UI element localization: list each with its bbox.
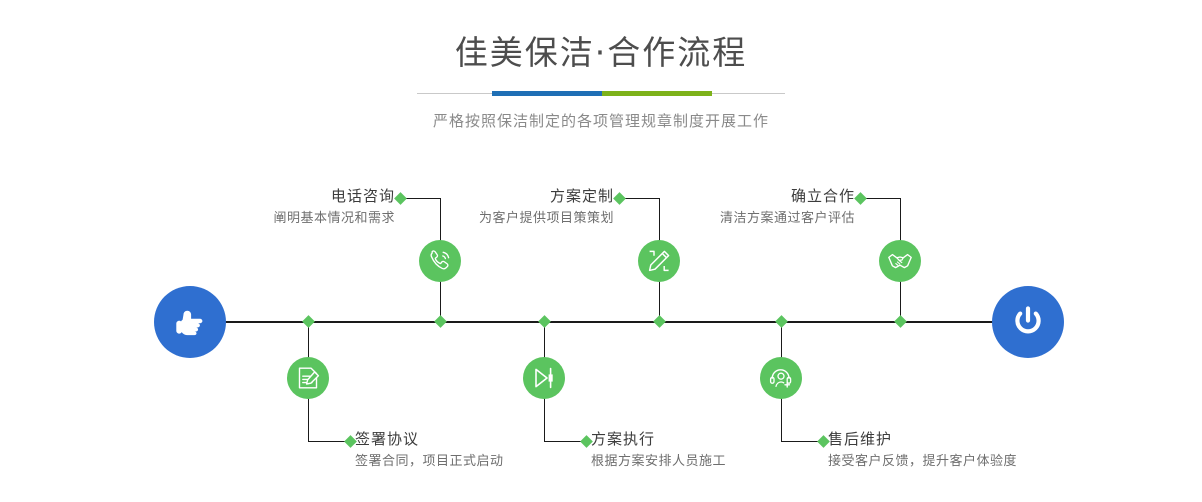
step-desc-5: 清洁方案通过客户评估: [575, 209, 855, 229]
process-timeline: 电话咨询 阐明基本情况和需求 签署协议 签署合同，项目正式启动: [0, 0, 1202, 502]
step-icon-1[interactable]: [419, 240, 461, 282]
timeline-main-axis: [225, 321, 1005, 323]
step-desc-3: 为客户提供项目策策划: [330, 209, 614, 229]
step-label-5: 确立合作 清洁方案通过客户评估: [575, 185, 855, 229]
timeline-marker-6: [775, 315, 788, 328]
step-label-2: 签署协议 签署合同，项目正式启动: [355, 428, 504, 472]
timeline-marker-4: [538, 315, 551, 328]
step-icon-2[interactable]: [287, 357, 329, 399]
step-desc-4: 根据方案安排人员施工: [591, 452, 726, 472]
flow-diagram-page: 佳美保洁·合作流程 严格按照保洁制定的各项管理规章制度开展工作: [0, 0, 1202, 502]
timeline-start-endpoint: [154, 286, 226, 358]
timeline-marker-5: [894, 315, 907, 328]
pencil-ruler-icon: [646, 248, 672, 274]
step-title-4: 方案执行: [591, 428, 726, 450]
play-execute-icon: [531, 365, 557, 391]
step-desc-2: 签署合同，项目正式启动: [355, 452, 504, 472]
timeline-marker-2: [302, 315, 315, 328]
step-label-6: 售后维护 接受客户反馈，提升客户体验度: [828, 428, 1017, 472]
step-title-6: 售后维护: [828, 428, 1017, 450]
timeline-marker-3: [653, 315, 666, 328]
handshake-icon: [887, 248, 913, 274]
step-label-4: 方案执行 根据方案安排人员施工: [591, 428, 726, 472]
power-icon: [1008, 302, 1048, 342]
label-marker-5: [854, 192, 867, 205]
step-icon-6[interactable]: [760, 357, 802, 399]
step-label-3: 方案定制 为客户提供项目策策划: [330, 185, 614, 229]
sign-document-icon: [295, 365, 321, 391]
step-desc-6: 接受客户反馈，提升客户体验度: [828, 452, 1017, 472]
step-icon-4[interactable]: [523, 357, 565, 399]
step-icon-5[interactable]: [879, 240, 921, 282]
pointing-hand-icon: [170, 302, 210, 342]
timeline-end-endpoint: [992, 286, 1064, 358]
step-icon-3[interactable]: [638, 240, 680, 282]
step-title-3: 方案定制: [330, 185, 614, 207]
customer-service-icon: [768, 365, 794, 391]
step-title-2: 签署协议: [355, 428, 504, 450]
timeline-marker-1: [434, 315, 447, 328]
phone-call-icon: [427, 248, 453, 274]
